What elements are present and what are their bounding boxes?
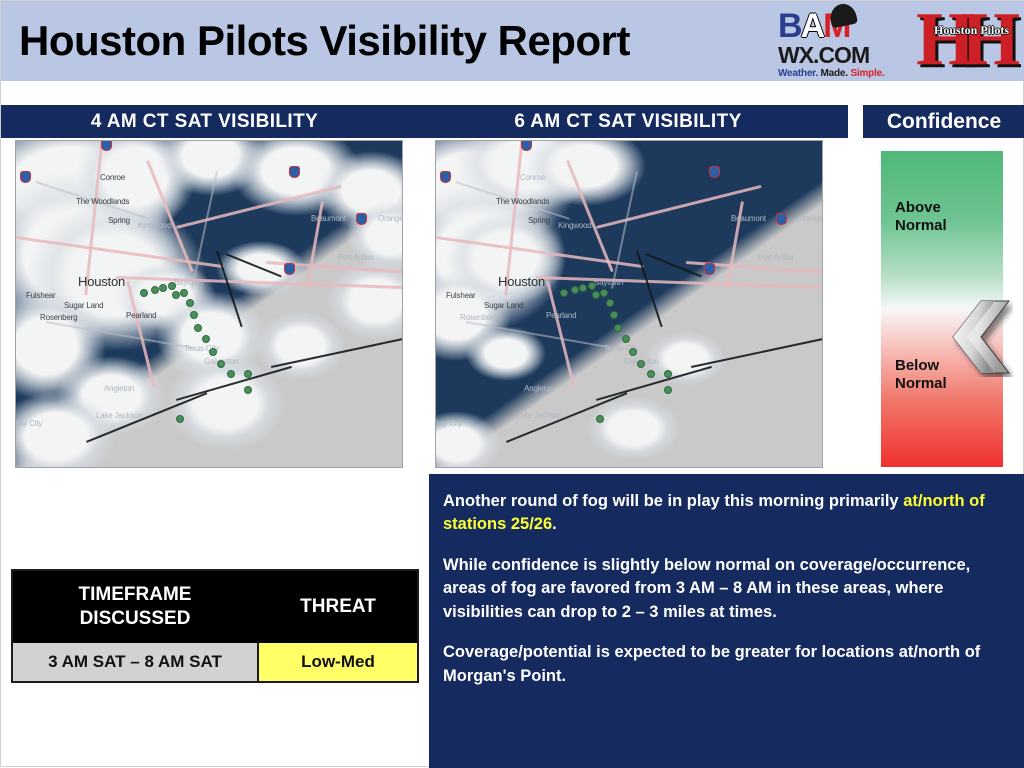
header-banner: Houston Pilots Visibility Report BAM WX.…: [1, 1, 1024, 81]
bamwx-letter-a: A: [801, 9, 824, 43]
station-dot: [186, 299, 194, 307]
interstate-shield-icon: [440, 171, 451, 183]
map-title-bar-4am: 4 AM CT SAT VISIBILITY: [1, 105, 408, 138]
tagline-made: Made.: [821, 68, 848, 79]
interstate-shield-icon: [704, 263, 715, 275]
city-label: Rosenberg: [40, 313, 77, 322]
table-header-threat: THREAT: [259, 571, 417, 643]
bamwx-domain: WX.COM: [778, 44, 915, 67]
city-label: Port Arthur: [338, 253, 374, 262]
gauge-below-line2: Normal: [895, 375, 985, 393]
city-label: Houston: [78, 274, 125, 289]
city-label: Pearland: [546, 311, 576, 320]
city-label: Baytown: [594, 278, 623, 287]
city-label: Angleton: [104, 384, 134, 393]
city-label: Conroe: [520, 173, 545, 182]
station-dot: [579, 284, 587, 292]
station-dot: [190, 311, 198, 319]
discussion-p1-text: Another round of fog will be in play thi…: [443, 492, 903, 510]
pilots-monogram-icon: HH: [916, 6, 1021, 78]
station-dot: [664, 370, 672, 378]
discussion-paragraph-1: Another round of fog will be in play thi…: [443, 490, 1007, 537]
station-dot: [217, 360, 225, 368]
station-dot: [172, 291, 180, 299]
interstate-shield-icon: [101, 140, 112, 151]
bamwx-tagline: Weather. Made. Simple.: [778, 68, 915, 79]
confidence-title-bar: Confidence: [863, 105, 1024, 138]
station-dot: [622, 335, 630, 343]
discussion-p1-tail: .: [552, 515, 557, 533]
city-label: Bay City: [435, 419, 462, 428]
station-dot: [596, 415, 604, 423]
city-label: Orange: [378, 214, 403, 223]
interstate-shield-icon: [709, 166, 720, 178]
bamwx-swoosh-icon: [828, 2, 858, 29]
city-label: Baytown: [174, 278, 203, 287]
cell-threat-value: Low-Med: [259, 643, 417, 681]
station-dot: [592, 291, 600, 299]
header-timeframe-line2: DISCUSSED: [79, 607, 192, 631]
city-label: The Woodlands: [496, 197, 549, 206]
pilots-logo-text: Houston Pilots: [922, 23, 1021, 38]
station-dot: [614, 324, 622, 332]
station-dot: [664, 386, 672, 394]
city-label: Fulshear: [446, 291, 476, 300]
city-label: Lake Jackson: [516, 411, 563, 420]
interstate-shield-icon: [356, 213, 367, 225]
station-dot: [244, 370, 252, 378]
table-header-row: TIMEFRAME DISCUSSED THREAT: [13, 571, 417, 643]
interstate-shield-icon: [284, 263, 295, 275]
city-label: Sugar Land: [64, 301, 103, 310]
houston-pilots-logo: HH Houston Pilots: [916, 6, 1021, 78]
confidence-title-label: Confidence: [887, 110, 1001, 134]
city-label: Rosenberg: [460, 313, 497, 322]
city-label: Lake Jackson: [96, 411, 143, 420]
interstate-shield-icon: [776, 213, 787, 225]
table-header-timeframe: TIMEFRAME DISCUSSED: [13, 571, 259, 643]
city-label: Kingwood: [138, 221, 172, 230]
city-label: Fulshear: [26, 291, 56, 300]
station-dot: [194, 324, 202, 332]
station-dot: [209, 348, 217, 356]
table-row: 3 AM SAT – 8 AM SAT Low-Med: [13, 643, 417, 681]
city-label: Port Arthur: [758, 253, 794, 262]
city-label: Kingwood: [558, 221, 592, 230]
station-dot: [610, 311, 618, 319]
station-dot: [140, 289, 148, 297]
station-dot: [606, 299, 614, 307]
bamwx-letter-b: B: [778, 9, 801, 43]
station-dot: [629, 348, 637, 356]
map-title-label-4am: 4 AM CT SAT VISIBILITY: [91, 111, 318, 133]
city-label: Spring: [108, 216, 130, 225]
station-dot: [202, 335, 210, 343]
city-label: Spring: [528, 216, 550, 225]
station-dot: [560, 289, 568, 297]
station-dot: [227, 370, 235, 378]
station-dot: [647, 370, 655, 378]
timeframe-threat-table: TIMEFRAME DISCUSSED THREAT 3 AM SAT – 8 …: [11, 569, 419, 683]
city-label: The Woodlands: [76, 197, 129, 206]
city-label: Houston: [498, 274, 545, 289]
tagline-simple: Simple.: [850, 68, 884, 79]
city-label: Beaumont: [311, 214, 346, 223]
station-dot: [244, 386, 252, 394]
tagline-weather: Weather.: [778, 68, 818, 79]
map-title-bar-6am: 6 AM CT SAT VISIBILITY: [408, 105, 848, 138]
station-dot: [159, 284, 167, 292]
interstate-shield-icon: [289, 166, 300, 178]
station-dot: [588, 282, 596, 290]
city-label: Angleton: [524, 384, 554, 393]
city-label: Orange: [798, 214, 823, 223]
page-title: Houston Pilots Visibility Report: [19, 17, 630, 65]
city-label: Beaumont: [731, 214, 766, 223]
city-label: Conroe: [100, 173, 125, 182]
cell-timeframe-value: 3 AM SAT – 8 AM SAT: [13, 643, 259, 681]
visibility-map-6am[interactable]: Conroe The Woodlands Spring Kingwood Hou…: [435, 140, 823, 468]
station-dot: [571, 286, 579, 294]
station-dot: [180, 289, 188, 297]
interstate-shield-icon: [20, 171, 31, 183]
discussion-panel: Another round of fog will be in play thi…: [429, 474, 1024, 768]
discussion-paragraph-2: While confidence is slightly below norma…: [443, 554, 1007, 624]
gauge-above-line1: Above: [895, 199, 985, 217]
bamwx-logo: BAM WX.COM Weather. Made. Simple.: [778, 9, 915, 75]
station-dot: [168, 282, 176, 290]
station-dot: [176, 415, 184, 423]
header-timeframe-line1: TIMEFRAME: [79, 583, 192, 607]
city-label: Pearland: [126, 311, 156, 320]
discussion-paragraph-3: Coverage/potential is expected to be gre…: [443, 641, 1007, 688]
station-dot: [600, 289, 608, 297]
visibility-map-4am[interactable]: Conroe The Woodlands Spring Kingwood Hou…: [15, 140, 403, 468]
station-dot: [637, 360, 645, 368]
map-title-label-6am: 6 AM CT SAT VISIBILITY: [514, 111, 741, 133]
interstate-shield-icon: [521, 140, 532, 151]
gauge-above-line2: Normal: [895, 217, 985, 235]
city-label: Sugar Land: [484, 301, 523, 310]
confidence-pointer-chevron-icon: [941, 297, 1013, 377]
gauge-label-above-normal: Above Normal: [895, 199, 985, 235]
city-label: Bay City: [15, 419, 42, 428]
station-dot: [151, 286, 159, 294]
bamwx-wordmark: BAM: [778, 9, 915, 43]
